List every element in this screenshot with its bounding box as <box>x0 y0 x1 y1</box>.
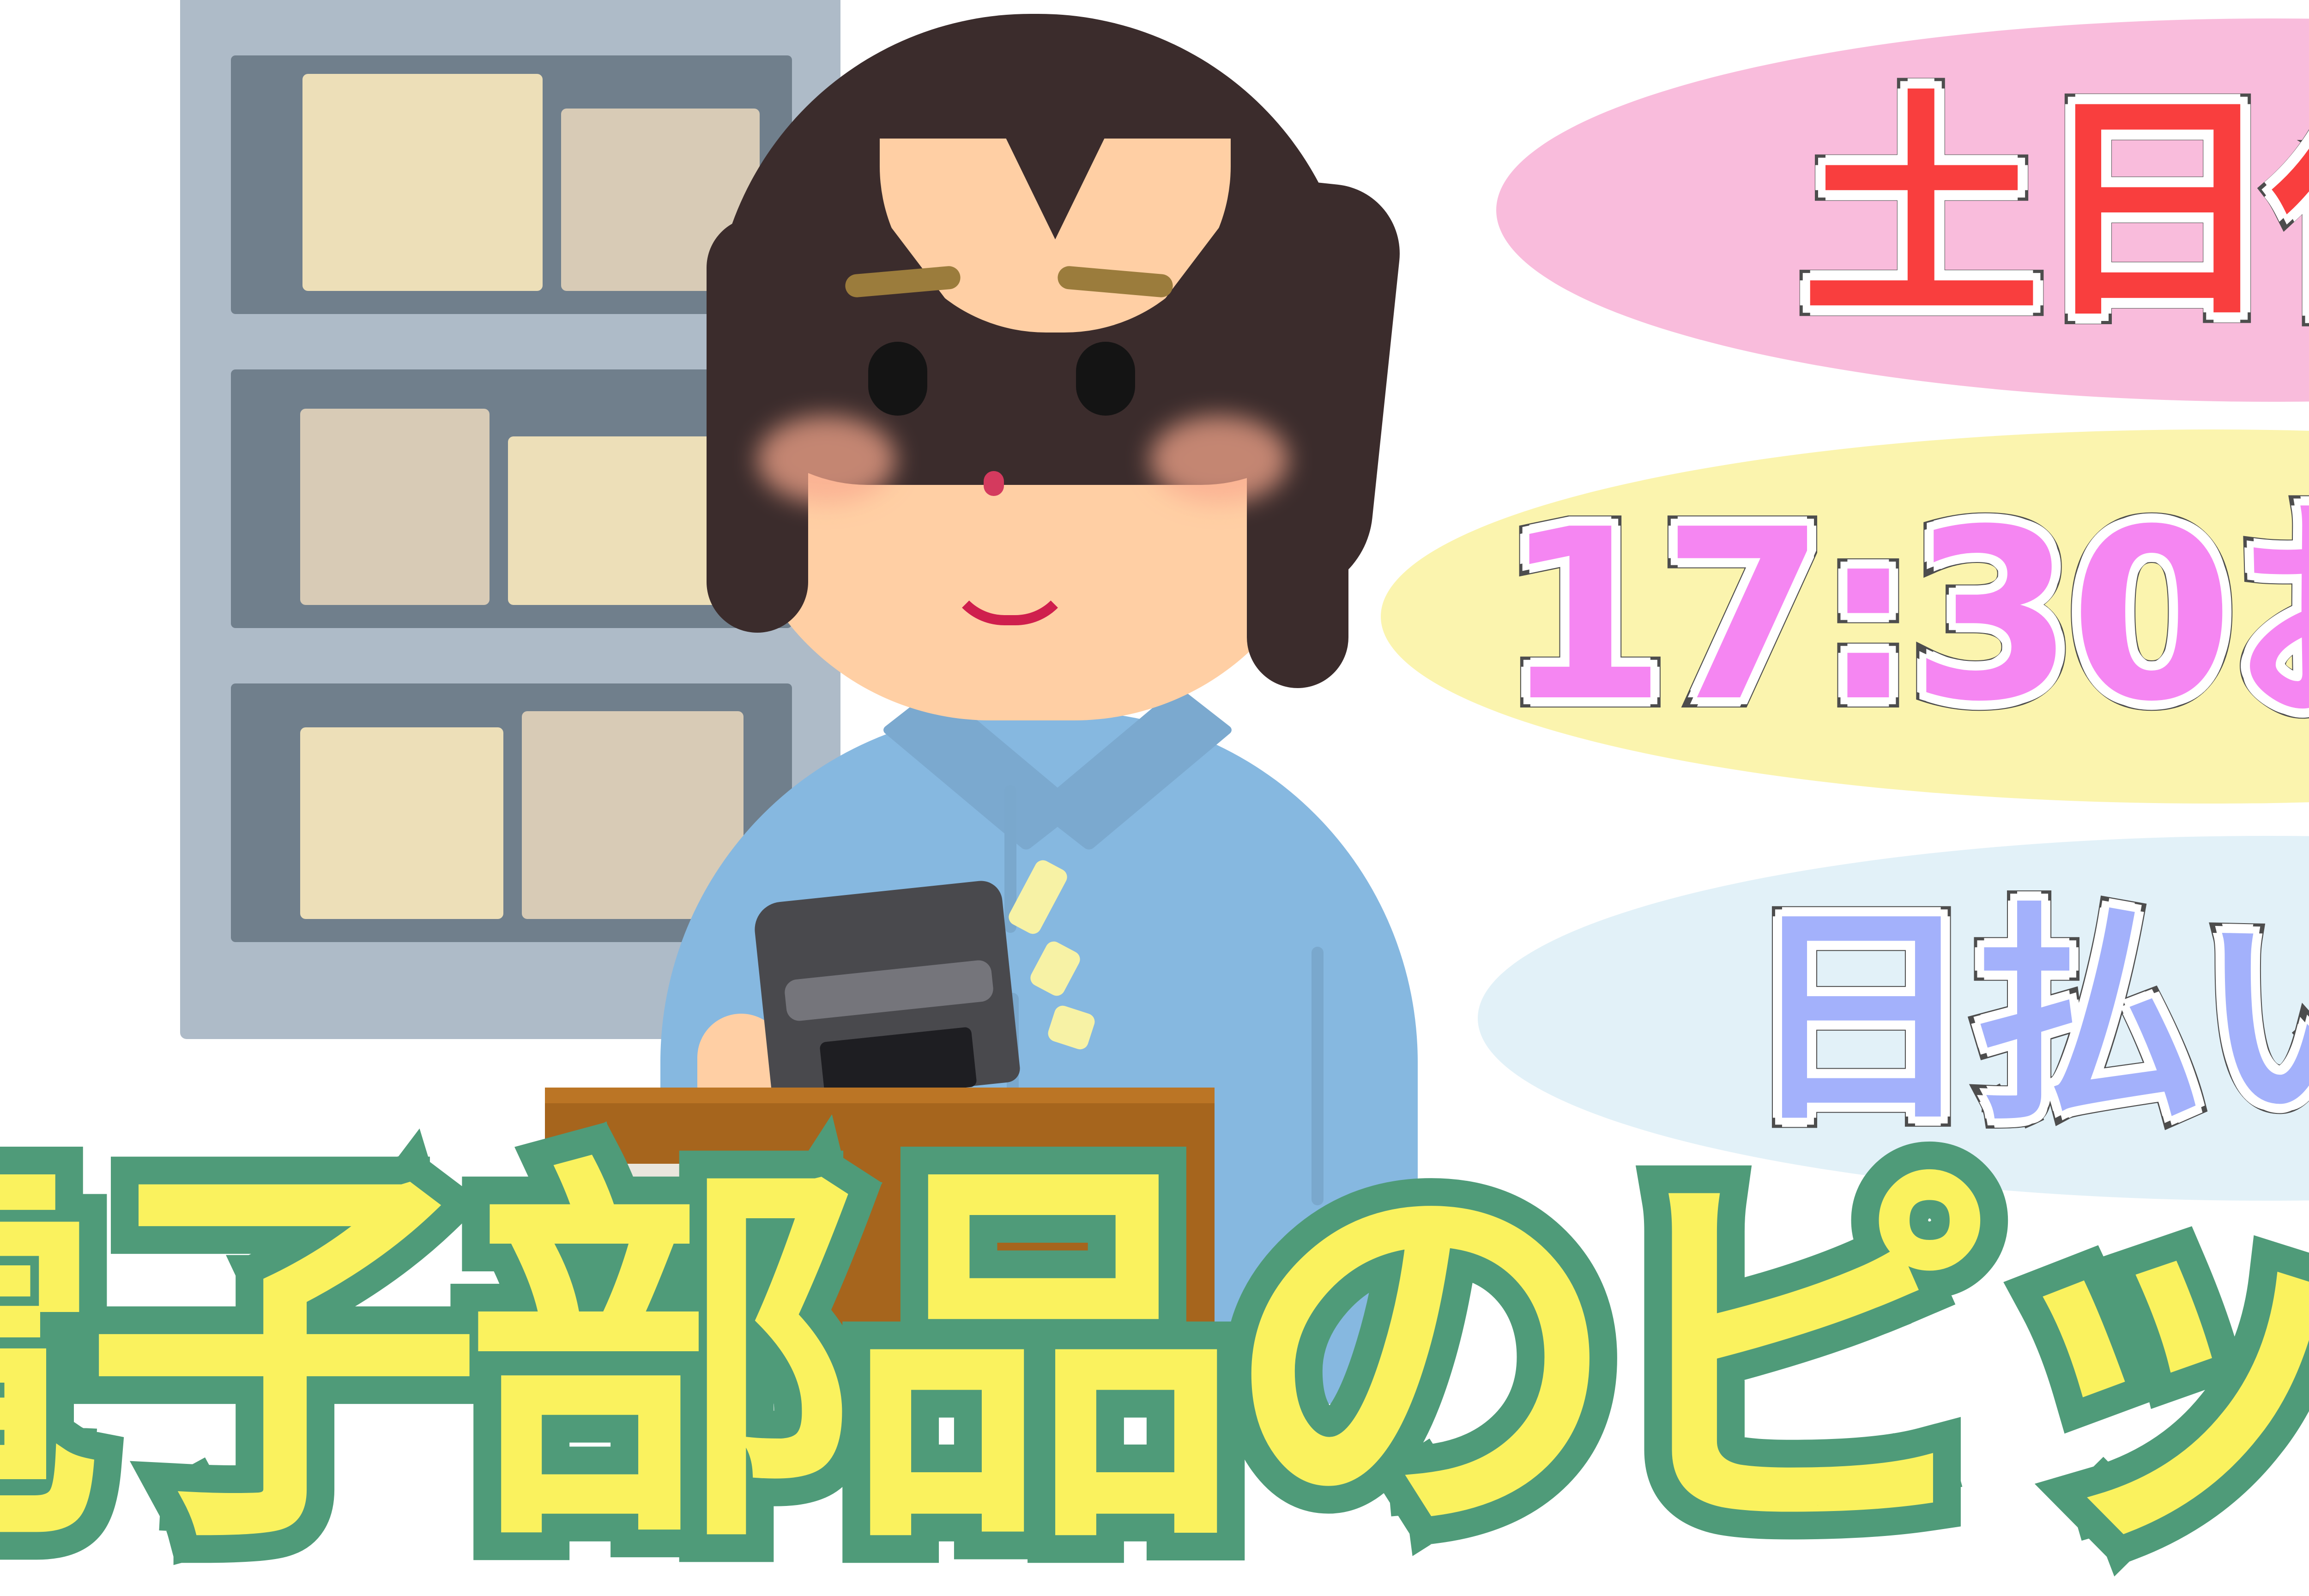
blush-left <box>757 416 896 503</box>
main-title-banner: 電子部品のピッキング <box>0 1122 2309 1596</box>
shelf-box <box>300 727 503 919</box>
badge-label: 土日休み <box>1801 90 2309 330</box>
main-title-text: 電子部品のピッキング <box>0 1161 2309 1559</box>
badge-label: 17:30おわり <box>1503 499 2309 734</box>
badge-label: 日払いOK <box>1745 903 2309 1134</box>
badge-saturday-sunday-off: 土日休み <box>1496 18 2309 402</box>
blush-right <box>1150 416 1288 503</box>
job-ad-poster: 土日休み 17:30おわり 日払いOK 電子部品のピッキング <box>0 0 2309 1596</box>
shelf-box <box>302 74 543 291</box>
nose <box>984 471 1004 496</box>
badge-end-time: 17:30おわり <box>1381 429 2309 804</box>
cardboard-box-lid <box>545 1088 1215 1103</box>
eye-right <box>1076 342 1135 416</box>
shelf-box <box>508 436 725 605</box>
shelf-box <box>300 409 490 605</box>
eye-left <box>868 342 927 416</box>
